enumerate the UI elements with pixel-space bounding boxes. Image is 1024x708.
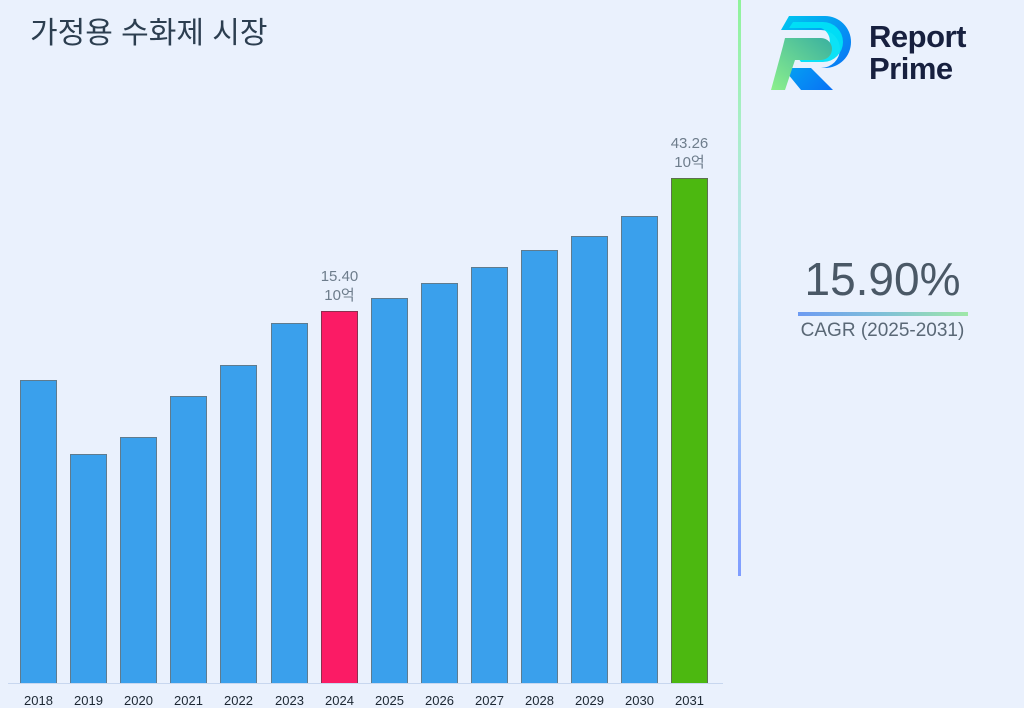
page-title: 가정용 수화제 시장	[30, 8, 267, 52]
cagr-block: 15.90% CAGR (2025-2031)	[741, 252, 1024, 342]
chart-page: 가정용 수화제 시장 20182019202020212022202315.40…	[0, 0, 1024, 576]
brand-logo: Report Prime	[771, 10, 1007, 96]
brand-name-line1: Report	[869, 19, 966, 54]
bar-value-unit: 10억	[645, 153, 735, 172]
report-prime-logo-mark-icon	[771, 12, 857, 94]
bar-2030[interactable]	[621, 216, 658, 683]
plot-area: 20182019202020212022202315.4010억20242025…	[0, 150, 738, 535]
bar-2027[interactable]	[471, 267, 508, 683]
brand-name: Report Prime	[869, 21, 966, 85]
bar-2026[interactable]	[421, 283, 458, 683]
bar-2019[interactable]	[70, 454, 107, 683]
bar-value-amount: 43.26	[645, 134, 735, 153]
bar-2022[interactable]	[220, 365, 257, 683]
bar-2023[interactable]	[271, 323, 308, 683]
cagr-divider-rule	[798, 312, 968, 316]
bar-2024[interactable]	[321, 311, 358, 683]
side-panel: Report Prime 15.90% CAGR (2025-2031)	[741, 0, 1024, 576]
chart-panel: 가정용 수화제 시장 20182019202020212022202315.40…	[0, 0, 738, 576]
bar-value-amount: 15.40	[295, 267, 385, 286]
cagr-value: 15.90%	[741, 252, 1024, 306]
bar-2031[interactable]	[671, 178, 708, 683]
bar-2029[interactable]	[571, 236, 608, 683]
bar-2020[interactable]	[120, 437, 157, 683]
x-axis-tick-2031: 2031	[660, 693, 720, 708]
cagr-caption: CAGR (2025-2031)	[741, 320, 1024, 342]
bar-2028[interactable]	[521, 250, 558, 683]
axis-baseline	[8, 683, 723, 684]
brand-name-line2: Prime	[869, 51, 953, 86]
bar-2025[interactable]	[371, 298, 408, 683]
bar-value-label-2031: 43.2610억	[645, 134, 735, 172]
bar-2021[interactable]	[170, 396, 207, 683]
bar-2018[interactable]	[20, 380, 57, 683]
